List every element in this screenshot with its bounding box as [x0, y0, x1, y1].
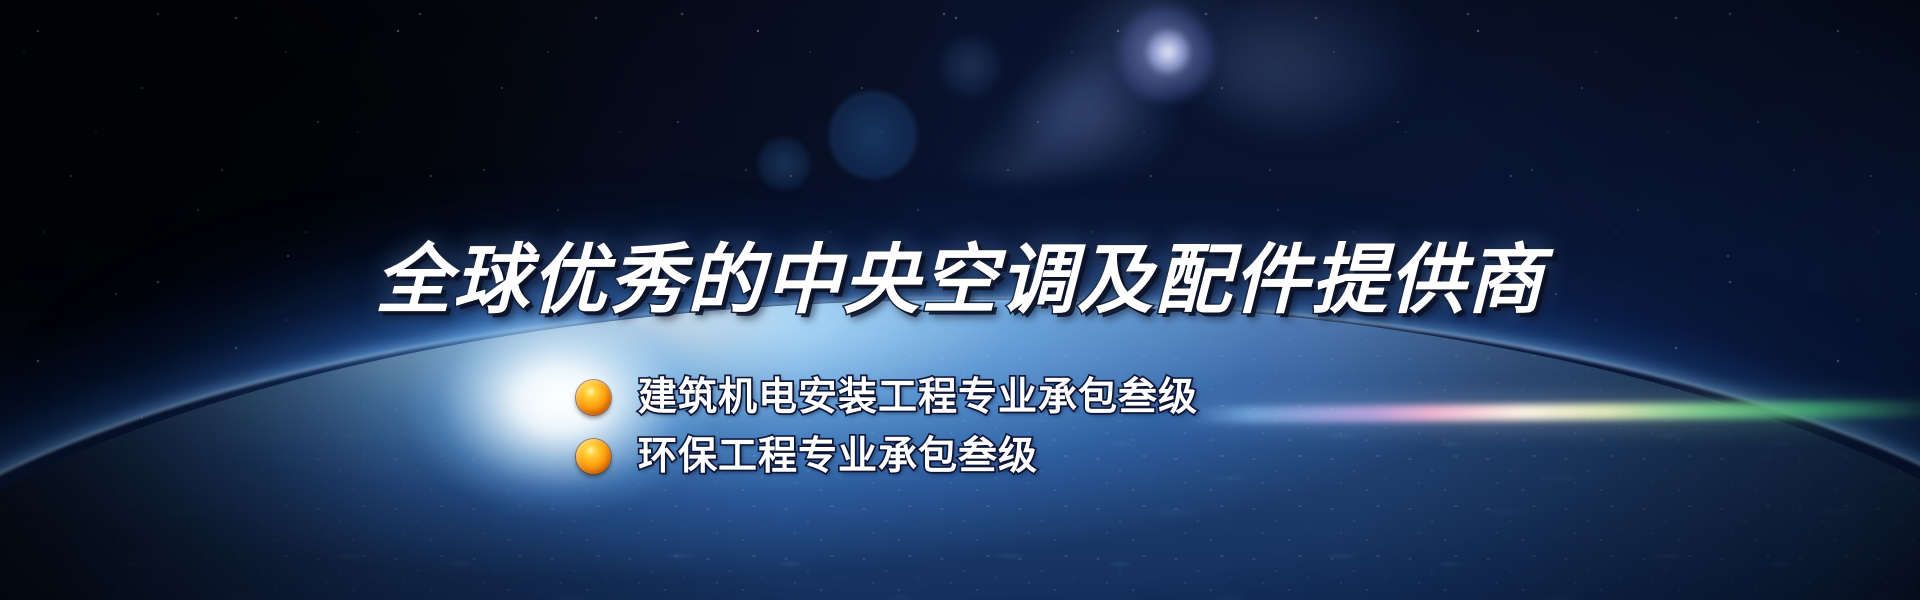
qualification-list: 建筑机电安装工程专业承包叁级 环保工程专业承包叁级 [576, 378, 1198, 476]
hero-banner: 全球优秀的中央空调及配件提供商 建筑机电安装工程专业承包叁级 环保工程专业承包叁… [0, 0, 1920, 600]
qualification-item: 环保工程专业承包叁级 [576, 437, 1198, 476]
qualification-label: 建筑机电安装工程专业承包叁级 [638, 378, 1198, 417]
banner-headline: 全球优秀的中央空调及配件提供商 [0, 243, 1920, 319]
orange-sphere-bullet-icon [576, 380, 611, 415]
qualification-item: 建筑机电安装工程专业承包叁级 [576, 378, 1198, 417]
banner-content: 全球优秀的中央空调及配件提供商 建筑机电安装工程专业承包叁级 环保工程专业承包叁… [0, 0, 1920, 600]
orange-sphere-bullet-icon [576, 439, 611, 474]
qualification-label: 环保工程专业承包叁级 [638, 437, 1038, 476]
